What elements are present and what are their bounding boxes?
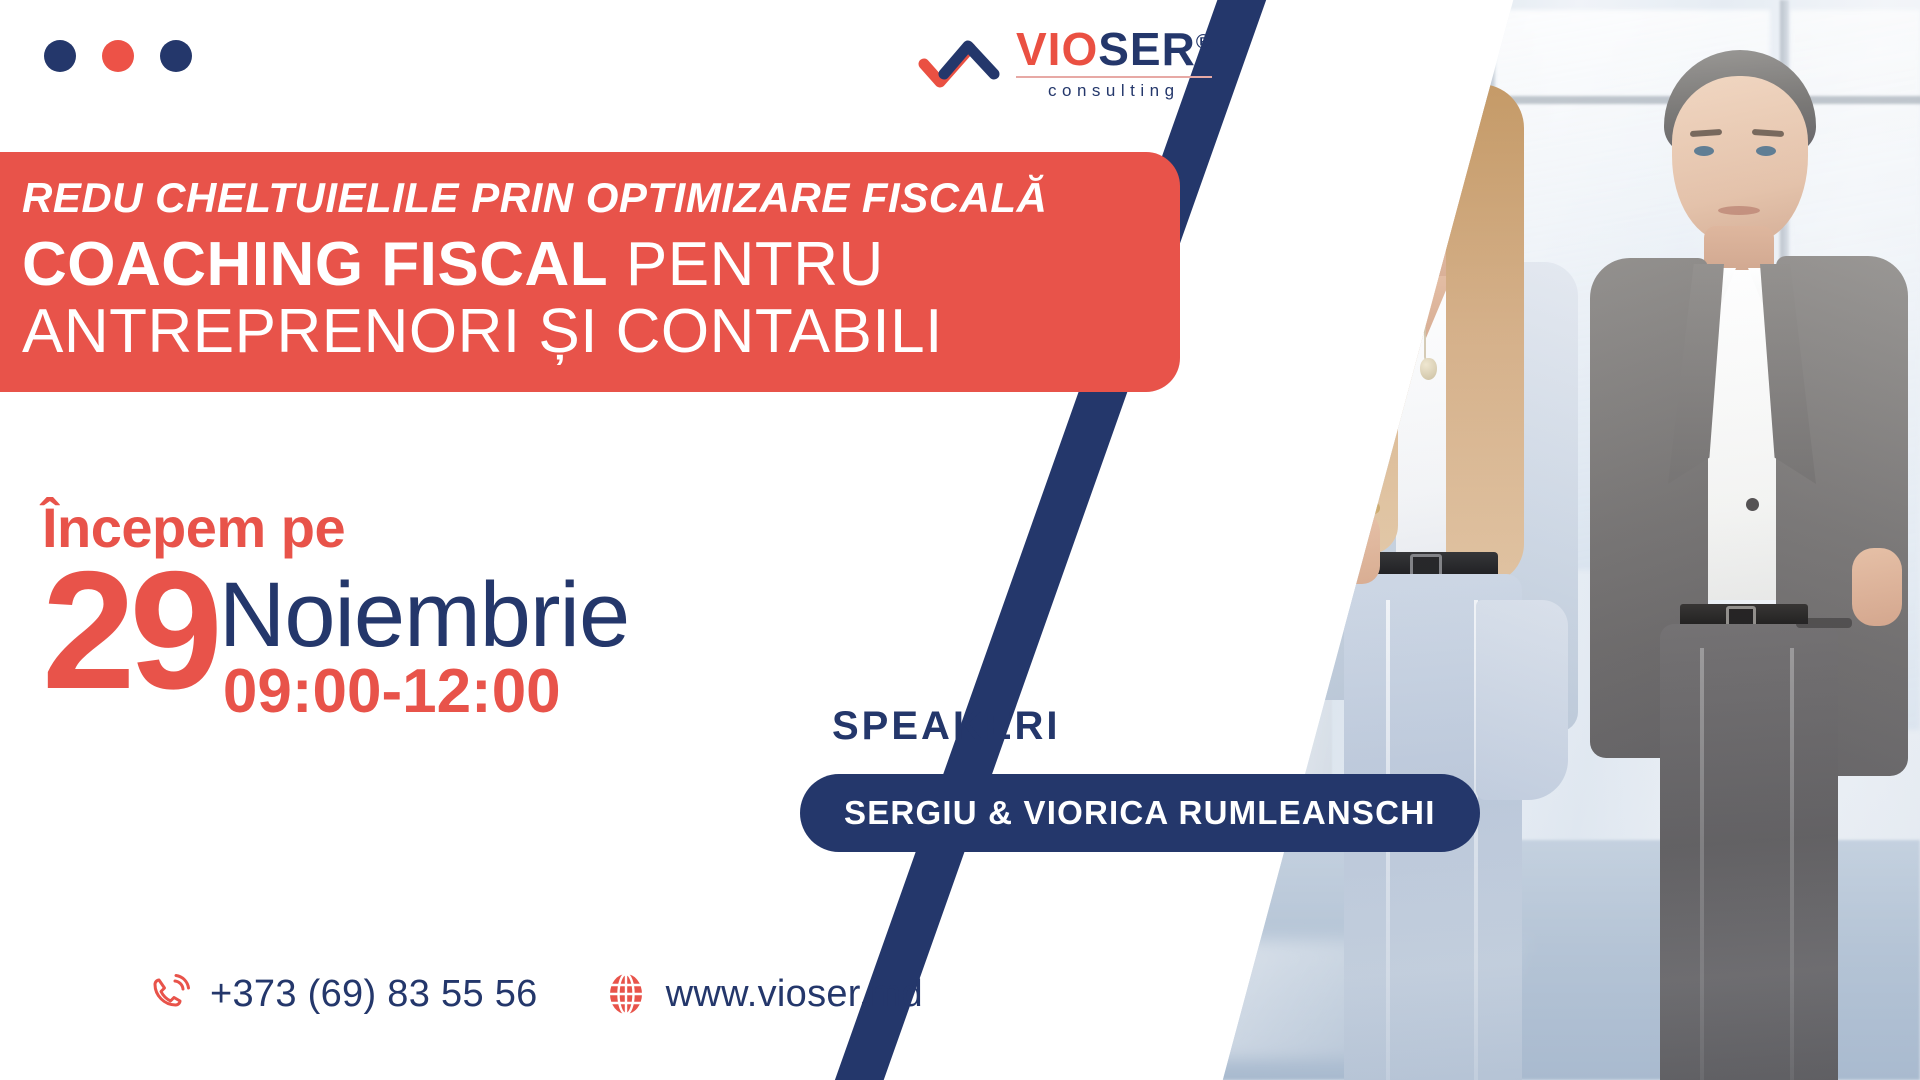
vioser-word: VIOSER® [1016, 26, 1212, 72]
headline-main: COACHING FISCAL PENTRU ANTREPRENORI ȘI C… [22, 232, 1150, 366]
trouser-crease [1700, 648, 1704, 1080]
eye [1438, 158, 1456, 167]
event-date-block: Începem pe 29 Noiembrie 09:00-12:00 [42, 500, 629, 723]
eye [1756, 146, 1776, 156]
hair-strand [1446, 84, 1524, 584]
event-time: 09:00-12:00 [223, 661, 629, 723]
contact-bar: +373 (69) 83 55 56 www.vioser.md [148, 972, 923, 1016]
speakers-name-badge: SERGIU & VIORICA RUMLEANSCHI [800, 774, 1480, 852]
website-url: www.vioser.md [666, 973, 923, 1016]
lips [1718, 206, 1760, 215]
contact-website[interactable]: www.vioser.md [604, 972, 923, 1016]
event-month: Noiembrie [219, 572, 629, 659]
headline-kicker: REDU CHELTUIELILE PRIN OPTIMIZARE FISCAL… [22, 174, 1150, 222]
suit-button [1746, 498, 1759, 511]
office-background [1090, 0, 1920, 1080]
hair-strand [1332, 84, 1398, 554]
necklace-pendant [1420, 358, 1437, 380]
eyebrow [1436, 143, 1462, 150]
lips [1410, 210, 1444, 222]
hand [1852, 548, 1902, 626]
logo-word-ser: SER [1098, 23, 1196, 75]
hand [1332, 510, 1380, 584]
vioser-logo[interactable]: VIOSER® consulting [918, 26, 1212, 101]
blazer-lapel [1360, 270, 1404, 440]
necklace-chain [1424, 302, 1434, 362]
headline-line2: ANTREPRENORI ȘI CONTABILI [22, 297, 943, 366]
headline-emphasis: COACHING FISCAL [22, 230, 608, 299]
trouser-pocket [1796, 618, 1852, 628]
contact-phone[interactable]: +373 (69) 83 55 56 [148, 972, 538, 1016]
vioser-wordmark: VIOSER® consulting [1016, 26, 1212, 101]
phone-icon [148, 972, 192, 1016]
face [1672, 76, 1808, 242]
trousers [1660, 624, 1838, 1080]
headline-line1-rest: PENTRU [608, 230, 884, 299]
event-day: 29 [42, 558, 217, 702]
decorative-dots [44, 40, 192, 72]
event-date-row: 29 Noiembrie 09:00-12:00 [42, 558, 629, 723]
phone-number: +373 (69) 83 55 56 [210, 973, 538, 1016]
logo-tagline: consulting [1048, 81, 1180, 101]
bracelet [1330, 502, 1380, 514]
eyebrow [1382, 143, 1408, 150]
registered-trademark-icon: ® [1196, 32, 1212, 54]
headline-banner: REDU CHELTUIELILE PRIN OPTIMIZARE FISCAL… [0, 152, 1180, 392]
speakers-label: SPEAKERI [832, 704, 1061, 749]
trouser-crease [1790, 648, 1794, 1080]
globe-icon [604, 972, 648, 1016]
man-speaker-figure [1560, 28, 1920, 1080]
dot-red [102, 40, 134, 72]
speakers-photo [1090, 0, 1920, 1080]
dot-navy-1 [44, 40, 76, 72]
blazer-hem [1476, 600, 1568, 800]
logo-word-vio: VIO [1016, 23, 1098, 75]
promo-poster: VIOSER® consulting REDU CHELTUIELILE PRI… [0, 0, 1920, 1080]
woman-speaker-figure [1240, 40, 1600, 1080]
dot-navy-2 [160, 40, 192, 72]
vioser-chevron-mark [918, 34, 1002, 94]
eye [1694, 146, 1714, 156]
event-month-time: Noiembrie 09:00-12:00 [219, 558, 629, 723]
eye [1386, 158, 1404, 167]
logo-divider-rule [1016, 76, 1212, 78]
